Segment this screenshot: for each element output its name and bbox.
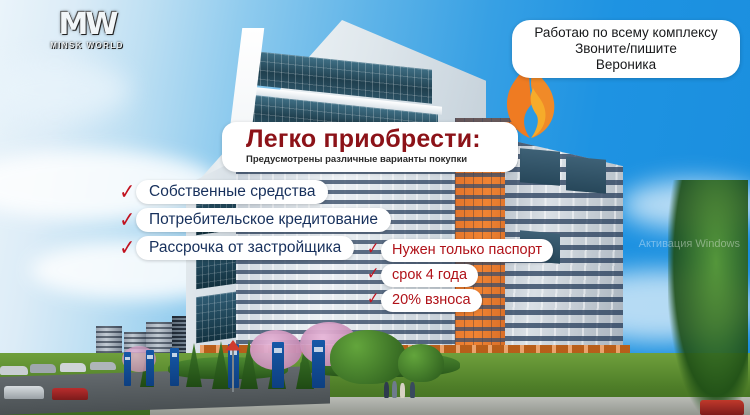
- contact-line-3: Вероника: [596, 57, 656, 73]
- pedestrian: [392, 381, 397, 398]
- street-banner: [146, 350, 154, 386]
- green-tree: [330, 330, 406, 384]
- check-icon: ✓: [367, 289, 379, 309]
- tower-glass-panel: [520, 148, 560, 185]
- tower-glass-panel: [566, 156, 606, 193]
- windows-activation-watermark: Активация Windows: [639, 238, 740, 251]
- car: [60, 363, 86, 372]
- street-banner: [272, 342, 284, 388]
- minsk-world-logo: MW MINSK WORLD: [47, 10, 127, 58]
- payment-option-installment: Рассрочка от застройщика: [136, 236, 354, 260]
- green-tree: [398, 344, 444, 382]
- check-icon: ✓: [119, 236, 135, 261]
- contact-line-1: Работаю по всему комплексу: [534, 25, 717, 41]
- car: [52, 388, 88, 400]
- advertisement-image: MW MINSK WORLD Работаю по всему комплекс…: [0, 0, 750, 415]
- car: [0, 366, 28, 375]
- car: [90, 362, 116, 370]
- car: [700, 400, 744, 415]
- logo-wordmark: MINSK WORLD: [47, 41, 127, 50]
- check-icon: ✓: [119, 180, 135, 205]
- car: [4, 386, 44, 399]
- sign-pole: [232, 346, 234, 392]
- watermark-line-1: Активация Windows: [639, 238, 740, 251]
- contact-line-2: Звоните/пишите: [575, 41, 677, 57]
- contact-callout: Работаю по всему комплексу Звоните/пишит…: [512, 20, 740, 78]
- check-icon: ✓: [367, 264, 379, 284]
- street-banner: [312, 340, 325, 388]
- condition-down-payment: 20% взноса: [381, 289, 482, 312]
- headline-subtitle: Предусмотрены различные варианты покупки: [246, 154, 504, 166]
- page-title: Легко приобрести:: [246, 126, 504, 153]
- street-banner: [124, 352, 131, 386]
- headline-callout: Легко приобрести: Предусмотрены различны…: [222, 122, 518, 172]
- condition-passport-only: Нужен только паспорт: [381, 239, 553, 262]
- pedestrian: [384, 382, 389, 398]
- foreground-tree: [668, 180, 748, 415]
- pedestrian: [410, 382, 415, 398]
- pedestrian: [400, 383, 405, 398]
- condition-term-4-years: срок 4 года: [381, 264, 478, 287]
- logo-monogram: MW: [47, 10, 127, 40]
- check-icon: ✓: [119, 208, 135, 233]
- street-banner: [170, 348, 179, 386]
- car: [30, 364, 56, 373]
- payment-option-consumer-credit: Потребительское кредитование: [136, 208, 391, 232]
- payment-option-own-funds: Собственные средства: [136, 180, 328, 204]
- check-icon: ✓: [367, 239, 379, 259]
